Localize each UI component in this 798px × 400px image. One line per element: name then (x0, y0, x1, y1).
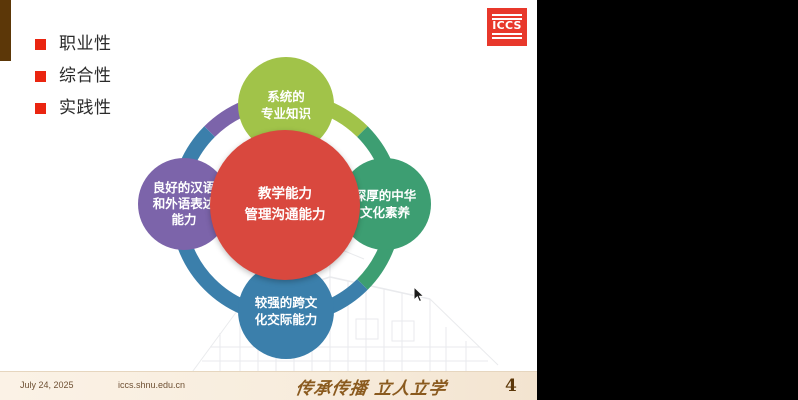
node-line-2: 和外语表达 (153, 196, 216, 212)
accent-bar (0, 0, 11, 61)
node-line-3: 能力 (171, 212, 196, 228)
video-panel-background: 讲者 (537, 0, 798, 400)
logo-rule-3 (492, 33, 522, 35)
node-line-1: 系统的 (267, 88, 305, 105)
bullet-label: 综合性 (59, 68, 112, 85)
slide-footer: July 24, 2025 iccs.shnu.edu.cn 传承传播 立人立学… (0, 371, 537, 400)
logo-mark: ICCS (491, 12, 523, 42)
node-line-1: 深厚的中华 (354, 187, 417, 204)
list-item: 实践性 (35, 100, 112, 117)
presentation-slide: 职业性 综合性 实践性 ICCS (0, 0, 537, 400)
node-line-2: 管理沟通能力 (245, 205, 326, 226)
node-line-1: 教学能力 (258, 184, 312, 205)
list-item: 职业性 (35, 36, 112, 53)
footer-calligraphy: 传承传播 立人立学 (294, 374, 448, 399)
logo-rule-top (492, 14, 522, 16)
bullet-label: 职业性 (59, 36, 112, 53)
node-teaching-management[interactable]: 教学能力 管理沟通能力 (210, 130, 360, 280)
page-number: 4 (505, 376, 517, 396)
bullet-label: 实践性 (59, 100, 112, 117)
square-bullet-icon (35, 103, 46, 114)
node-line-2: 文化素养 (360, 204, 410, 221)
node-line-2: 专业知识 (261, 105, 311, 122)
square-bullet-icon (35, 71, 46, 82)
mouse-cursor-icon (413, 286, 425, 304)
bullet-list: 职业性 综合性 实践性 (35, 36, 112, 132)
list-item: 综合性 (35, 68, 112, 85)
footer-date: July 24, 2025 (20, 380, 74, 390)
node-line-2: 化交际能力 (255, 311, 318, 328)
square-bullet-icon (35, 39, 46, 50)
logo-text: ICCS (491, 20, 523, 32)
footer-url: iccs.shnu.edu.cn (118, 380, 185, 390)
logo-rule-bottom (492, 37, 522, 39)
screen-root: 职业性 综合性 实践性 ICCS (0, 0, 798, 400)
node-line-1: 较强的跨文 (255, 294, 318, 311)
competency-ring-diagram: 系统的 专业知识 深厚的中华 文化素养 较强的跨文 化交际能力 良好的汉语 和外… (130, 55, 460, 365)
iccs-logo: ICCS (487, 8, 527, 46)
node-line-1: 良好的汉语 (153, 180, 216, 196)
